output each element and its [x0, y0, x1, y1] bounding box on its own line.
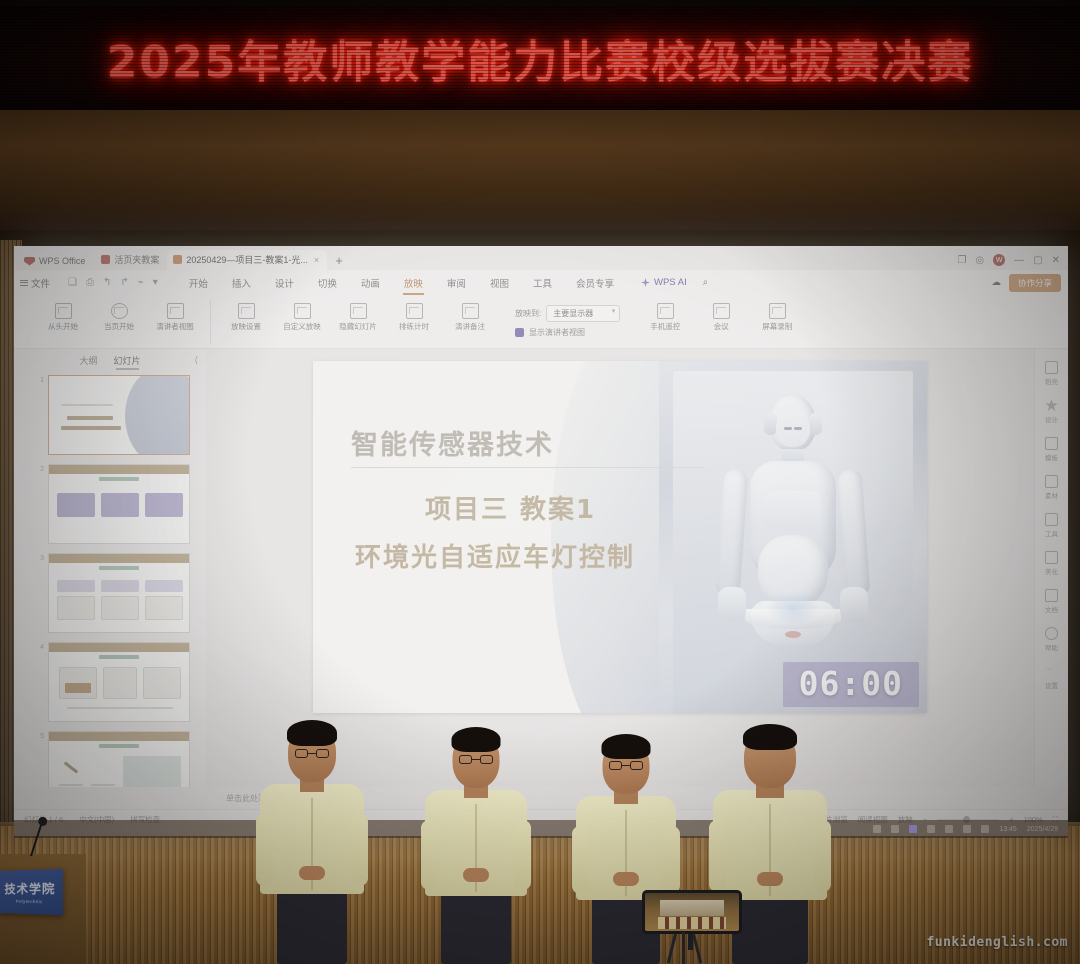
thumbnail-number: 5 — [34, 731, 44, 740]
presenter-glasses — [459, 755, 493, 764]
decor-card — [101, 580, 139, 592]
sparkle-icon — [641, 278, 650, 287]
podium-sign-cn: 技术学院 — [4, 880, 55, 898]
phone-remote-label: 手机遥控 — [650, 323, 680, 332]
decor-tile — [145, 596, 183, 620]
decor-tile — [57, 596, 95, 620]
wps-ai-label: WPS AI — [654, 277, 687, 288]
decor-gold-bar — [49, 465, 189, 474]
decor-line — [67, 707, 173, 709]
robot-hand-left — [718, 587, 746, 621]
material-icon — [1045, 475, 1058, 488]
speaker-notes-icon — [462, 303, 479, 319]
decor-card — [145, 580, 183, 592]
presenter-2 — [412, 738, 540, 964]
redo-icon[interactable]: ↱ — [120, 277, 128, 288]
decor-line — [61, 404, 113, 406]
ppt-file-icon — [173, 255, 182, 264]
account-avatar[interactable]: W — [993, 254, 1005, 266]
cloud-sync-icon[interactable]: ☁ — [991, 277, 1001, 288]
countdown-timer: 06:00 — [783, 662, 919, 707]
rail-item-material[interactable]: 素材 — [1045, 475, 1058, 500]
taskbar-icon-app[interactable] — [927, 825, 935, 833]
wps-workspace: 大纲 幻灯片 ⟨ 1 2 — [14, 349, 1068, 787]
thumbnails-list[interactable]: 1 2 — [14, 371, 206, 787]
phone-preview-people — [658, 917, 726, 928]
slide-subtitle-1: 项目三 教案1 — [425, 489, 596, 526]
tripod-leg — [667, 934, 677, 964]
decor-card — [57, 580, 95, 592]
decor-arc — [125, 375, 190, 455]
speaker-notes-label: 演讲备注 — [455, 323, 485, 332]
ribbon-tab-tools[interactable]: 工具 — [532, 273, 553, 293]
screen-record-icon — [769, 303, 786, 319]
slide-title-rule — [351, 467, 703, 468]
rail-label: 设置 — [1045, 680, 1058, 690]
windows-taskbar: 13:45 2025/4/29 — [14, 820, 1068, 838]
slideshow-settings-icon — [238, 303, 255, 319]
custom-show-button[interactable]: 自定义放映 — [279, 299, 325, 332]
hide-slide-icon — [350, 303, 367, 319]
thumbnail-frame — [48, 642, 190, 722]
phone-screen-preview — [645, 893, 739, 931]
decor-accent — [61, 426, 121, 430]
speaker-notes-bar[interactable]: 单击此处添加演讲者备注 — [14, 787, 1068, 809]
presenter-arm-right — [663, 826, 680, 894]
screen-record-button[interactable]: 屏幕录制 — [754, 299, 800, 332]
presenter-view-checkbox-row[interactable]: 显示演讲者视图 — [515, 327, 620, 338]
decor-gold-bar — [49, 732, 189, 741]
tab-slides[interactable]: 幻灯片 — [114, 354, 141, 367]
rail-label: 素材 — [1045, 490, 1058, 500]
rail-item-beautify[interactable]: 美化 — [1045, 551, 1058, 576]
ribbon-tab-start[interactable]: 开始 — [188, 273, 209, 293]
decor-title-chip — [99, 477, 139, 481]
tab-outline[interactable]: 大纲 — [79, 354, 97, 367]
maximize-icon[interactable]: ▢ — [1033, 255, 1042, 266]
hide-slide-button[interactable]: 隐藏幻灯片 — [335, 299, 381, 332]
decor-tile — [143, 667, 181, 699]
rail-label: 美化 — [1045, 566, 1058, 576]
thumbnail-number: 4 — [34, 642, 44, 651]
presenter-view-checkbox-label: 显示演讲者视图 — [529, 327, 585, 338]
rail-label: 工具 — [1045, 528, 1058, 538]
taskbar-icon-wps[interactable] — [909, 825, 917, 833]
slide-thumbnails-pane: 大纲 幻灯片 ⟨ 1 2 — [14, 349, 206, 787]
ribbon-tab-design[interactable]: 设计 — [274, 273, 295, 293]
decor-accent — [64, 761, 78, 773]
thumbnail-frame — [48, 464, 190, 544]
decor-image — [123, 756, 181, 787]
ribbon-group-tools: 手机遥控 会议 屏幕录制 — [630, 299, 812, 345]
decor-title-chip — [99, 566, 139, 570]
file-menu-button[interactable]: 文件 — [20, 276, 60, 290]
qat-more-icon[interactable]: ▾ — [153, 277, 158, 288]
presenter-hair — [287, 720, 337, 746]
meeting-icon — [713, 303, 730, 319]
collapse-pane-icon[interactable]: ⟨ — [194, 355, 198, 366]
rail-item-doc[interactable]: 文档 — [1045, 589, 1058, 614]
decor-gold-bar — [49, 554, 189, 563]
rail-label: 文档 — [1045, 604, 1058, 614]
thumbnail-slide-2[interactable]: 2 — [34, 464, 198, 544]
hide-slide-label: 隐藏幻灯片 — [339, 323, 377, 332]
rail-item-dock[interactable]: 稻壳 — [1045, 361, 1058, 386]
document-tab-2[interactable]: 20250429—项目三-教案1-光... × — [167, 250, 327, 270]
new-tab-button[interactable]: + — [327, 253, 349, 270]
wps-app-label: WPS Office — [39, 256, 85, 266]
wps-tab-strip: WPS Office 活页夹教案 20250429—项目三-教案1-光... ×… — [14, 246, 1068, 270]
monitor-select[interactable]: 主要显示器 — [546, 305, 620, 322]
search-icon[interactable]: ⌕ — [703, 277, 708, 288]
presenter-arm-left — [421, 820, 438, 890]
presenter-hands — [299, 866, 325, 880]
rail-label: 稻壳 — [1045, 376, 1058, 386]
wps-ai-button[interactable]: WPS AI — [641, 277, 687, 288]
thumbnail-frame — [48, 553, 190, 633]
monitor-label: 放映到: — [515, 308, 541, 319]
hamburger-icon — [20, 280, 28, 286]
screen-record-label: 屏幕录制 — [762, 323, 792, 332]
custom-show-icon — [294, 303, 311, 319]
rail-label: 模板 — [1045, 452, 1058, 462]
wps-ribbon-toolbar: 从头开始 当页开始 演讲者视图 放映设置 自定义放映 隐藏幻灯片 — [14, 295, 1068, 349]
restore-down-icon[interactable]: ❐ — [957, 255, 966, 266]
decor-accent — [65, 683, 91, 693]
rail-label: 帮助 — [1045, 642, 1058, 652]
robot-indicator-light — [785, 631, 801, 638]
thumbnail-slide-4[interactable]: 4 — [34, 642, 198, 722]
rail-item-template[interactable]: 模板 — [1045, 437, 1058, 462]
meeting-button[interactable]: 会议 — [698, 299, 744, 332]
play-current-label: 当页开始 — [104, 323, 134, 332]
close-window-icon[interactable]: ✕ — [1052, 255, 1060, 266]
ribbon-tab-member[interactable]: 会员专享 — [575, 273, 615, 293]
slide-title: 智能传感器技术 — [351, 423, 554, 462]
play-current-icon — [111, 303, 128, 319]
save-icon[interactable]: ❏ — [68, 277, 77, 288]
decor-line — [59, 784, 83, 786]
pdf-file-icon — [101, 255, 110, 264]
presenter-hair — [602, 734, 651, 759]
undo-icon[interactable]: ↰ — [103, 277, 111, 288]
decor-tile — [101, 596, 139, 620]
monitor-select-row: 放映到: 主要显示器 — [515, 305, 620, 322]
taskbar-clock-date[interactable]: 2025/4/29 — [1027, 826, 1058, 833]
presenter-arm-right — [351, 814, 368, 886]
robot-hand-right — [840, 587, 868, 621]
decor-line — [91, 784, 115, 786]
thumbnail-number: 2 — [34, 464, 44, 473]
decor-title-chip — [99, 655, 139, 659]
taskbar-clock-time[interactable]: 13:45 — [999, 826, 1017, 833]
robot-eye-left — [784, 427, 792, 430]
menu-row-right: ☁ 协作分享 — [991, 274, 1068, 292]
minimize-icon[interactable]: — — [1014, 255, 1024, 266]
ribbon-group-monitor: 放映到: 主要显示器 显示演讲者视图 — [505, 299, 630, 345]
site-watermark: funkidenglish.com — [926, 935, 1068, 950]
presenter-view-icon — [167, 303, 184, 319]
tripod-leg — [692, 934, 702, 964]
thumbnail-slide-5[interactable]: 5 — [34, 731, 198, 787]
ribbon-tab-slideshow[interactable]: 放映 — [403, 273, 424, 293]
robot-arm-right — [838, 468, 871, 597]
presenter-arm-right — [514, 820, 531, 890]
document-tab-2-label: 20250429—项目三-教案1-光... — [186, 253, 308, 266]
ribbon-tab-list: 开始 插入 设计 切换 动画 放映 审阅 视图 工具 会员专享 — [188, 273, 615, 293]
robot-eye-right — [794, 427, 802, 430]
presenter-legs — [277, 892, 347, 964]
ribbon-group-setup: 放映设置 自定义放映 隐藏幻灯片 排练计时 演讲备注 — [210, 299, 505, 345]
custom-show-label: 自定义放映 — [283, 323, 321, 332]
presenter-view-checkbox[interactable] — [515, 328, 524, 337]
presenter-arm-left — [709, 820, 726, 892]
robot-arm-left — [716, 468, 749, 597]
play-from-start-icon — [55, 303, 72, 319]
share-button[interactable]: 协作分享 — [1009, 274, 1061, 292]
current-slide[interactable]: 智能传感器技术 项目三 教案1 环境光自适应车灯控制 06:00 — [313, 361, 927, 713]
taskbar-icon-volume[interactable] — [963, 825, 971, 833]
presenter-hair — [452, 727, 501, 752]
robot-chest-plate — [765, 491, 821, 531]
decor-accent — [67, 416, 113, 420]
thumbnails-header: 大纲 幻灯片 ⟨ — [14, 349, 206, 371]
podium-sign-en: Polytechnic — [16, 899, 43, 904]
taskbar-icon-ime[interactable] — [981, 825, 989, 833]
template-icon — [1045, 437, 1058, 450]
phone-remote-icon — [657, 303, 674, 319]
robot-ear-right — [809, 413, 822, 435]
ribbon-tab-transition[interactable]: 切换 — [317, 273, 338, 293]
thumbnail-number: 3 — [34, 553, 44, 562]
wps-app-name[interactable]: WPS Office — [20, 256, 95, 270]
settings-icon: ⋯ — [1045, 665, 1058, 678]
beautify-icon — [1045, 551, 1058, 564]
design-icon — [1045, 399, 1058, 412]
play-from-start-label: 从头开始 — [48, 323, 78, 332]
ribbon-tab-animation[interactable]: 动画 — [360, 273, 381, 293]
thumbnail-slide-3[interactable]: 3 — [34, 553, 198, 633]
presenter-legs — [441, 894, 511, 964]
taskbar-icon-network[interactable] — [945, 825, 953, 833]
presenter-hands — [613, 872, 639, 886]
rehearse-timing-icon — [406, 303, 423, 319]
robot-ear-left — [764, 413, 777, 435]
smartphone[interactable] — [642, 890, 742, 934]
presenter-1 — [248, 732, 376, 964]
rail-item-tools[interactable]: 工具 — [1045, 513, 1058, 538]
wall-middle — [0, 110, 1080, 230]
document-tab-1-label: 活页夹教案 — [114, 253, 159, 266]
podium: 技术学院 Polytechnic — [0, 854, 86, 964]
meeting-label: 会议 — [714, 323, 729, 332]
rail-item-settings[interactable]: ⋯ 设置 — [1045, 665, 1058, 690]
settings-gear-icon[interactable]: ◎ — [975, 255, 984, 266]
decor-tile — [103, 667, 137, 699]
ribbon-group-play: 从头开始 当页开始 演讲者视图 — [28, 299, 210, 345]
play-from-start-button[interactable]: 从头开始 — [40, 299, 86, 332]
rehearse-timing-button[interactable]: 排练计时 — [391, 299, 437, 332]
presenter-glasses — [295, 749, 329, 758]
robot-head — [770, 395, 816, 451]
slide-subtitle-2: 环境光自适应车灯控制 — [355, 537, 635, 574]
presenter-hands — [757, 872, 783, 886]
decor-card — [101, 493, 139, 517]
presenter-arm-left — [572, 826, 589, 894]
print-icon[interactable]: ⎙ — [86, 277, 94, 288]
thumbnail-frame — [48, 731, 190, 787]
quick-access-toolbar: ❏ ⎙ ↰ ↱ ⌁ ▾ — [60, 277, 166, 288]
thumbnail-slide-1[interactable]: 1 — [34, 375, 198, 455]
decor-gold-bar — [49, 643, 189, 652]
speaker-notes-button[interactable]: 演讲备注 — [447, 299, 493, 332]
rail-item-help[interactable]: 帮助 — [1045, 627, 1058, 652]
decor-card — [145, 493, 183, 517]
decor-card — [57, 493, 95, 517]
file-menu-label: 文件 — [31, 276, 50, 290]
presenter-arm-right — [814, 820, 831, 892]
presenter-hair — [743, 724, 797, 750]
document-tab-1[interactable]: 活页夹教案 — [95, 250, 167, 270]
dock-icon — [1045, 361, 1058, 374]
led-banner: 2025年教师教学能力比赛校级选拔赛决赛 — [0, 6, 1080, 110]
doc-icon — [1045, 589, 1058, 602]
phone-tripod — [634, 890, 752, 964]
presenter-arm-left — [256, 814, 273, 886]
phone-remote-button[interactable]: 手机遥控 — [642, 299, 688, 332]
thumbnail-frame — [48, 375, 190, 455]
presenter-glasses — [609, 761, 643, 770]
rehearse-timing-label: 排练计时 — [399, 323, 429, 332]
phone-preview-stage — [660, 900, 724, 916]
decor-title-chip — [99, 744, 139, 748]
format-painter-icon[interactable]: ⌁ — [138, 277, 144, 288]
led-banner-text: 2025年教师教学能力比赛校级选拔赛决赛 — [107, 26, 973, 90]
wps-menu-row: 文件 ❏ ⎙ ↰ ↱ ⌁ ▾ 开始 插入 设计 切换 动画 放映 审阅 视图 工… — [14, 270, 1068, 295]
ribbon-tab-view[interactable]: 视图 — [489, 273, 510, 293]
close-tab-icon[interactable]: × — [314, 255, 319, 265]
presenter-hands — [463, 868, 489, 882]
wps-logo-icon — [24, 257, 35, 266]
rail-label: 设计 — [1045, 414, 1058, 424]
podium-sign: 技术学院 Polytechnic — [0, 869, 63, 915]
slide-canvas-pane: 智能传感器技术 项目三 教案1 环境光自适应车灯控制 06:00 — [206, 349, 1034, 787]
tripod-leg — [682, 932, 685, 964]
slideshow-settings-button[interactable]: 放映设置 — [223, 299, 269, 332]
robot-core-glow — [766, 591, 820, 625]
window-controls: ❐ ◎ W — ▢ ✕ — [957, 254, 1068, 270]
ribbon-right-tools: WPS AI ⌕ — [641, 277, 708, 288]
projection-screen: WPS Office 活页夹教案 20250429—项目三-教案1-光... ×… — [14, 246, 1068, 836]
taskbar-icon-explorer[interactable] — [873, 825, 881, 833]
help-icon — [1045, 627, 1058, 640]
thumbnail-number: 1 — [34, 375, 44, 384]
robot-figure — [718, 395, 868, 695]
right-tool-rail: 稻壳 设计 模板 素材 工具 美化 — [1034, 349, 1068, 787]
ribbon-tab-review[interactable]: 审阅 — [446, 273, 467, 293]
ribbon-tab-insert[interactable]: 插入 — [231, 273, 252, 293]
taskbar-icon-browser[interactable] — [891, 825, 899, 833]
tools-icon — [1045, 513, 1058, 526]
stage-front-slats — [0, 826, 1080, 964]
rail-item-design[interactable]: 设计 — [1045, 399, 1058, 424]
presenter-view-button[interactable]: 演讲者视图 — [152, 299, 198, 332]
slideshow-settings-label: 放映设置 — [231, 323, 261, 332]
robot-face — [776, 409, 810, 447]
play-current-button[interactable]: 当页开始 — [96, 299, 142, 332]
presenter-view-label: 演讲者视图 — [156, 323, 194, 332]
slide-robot-image — [659, 361, 927, 713]
